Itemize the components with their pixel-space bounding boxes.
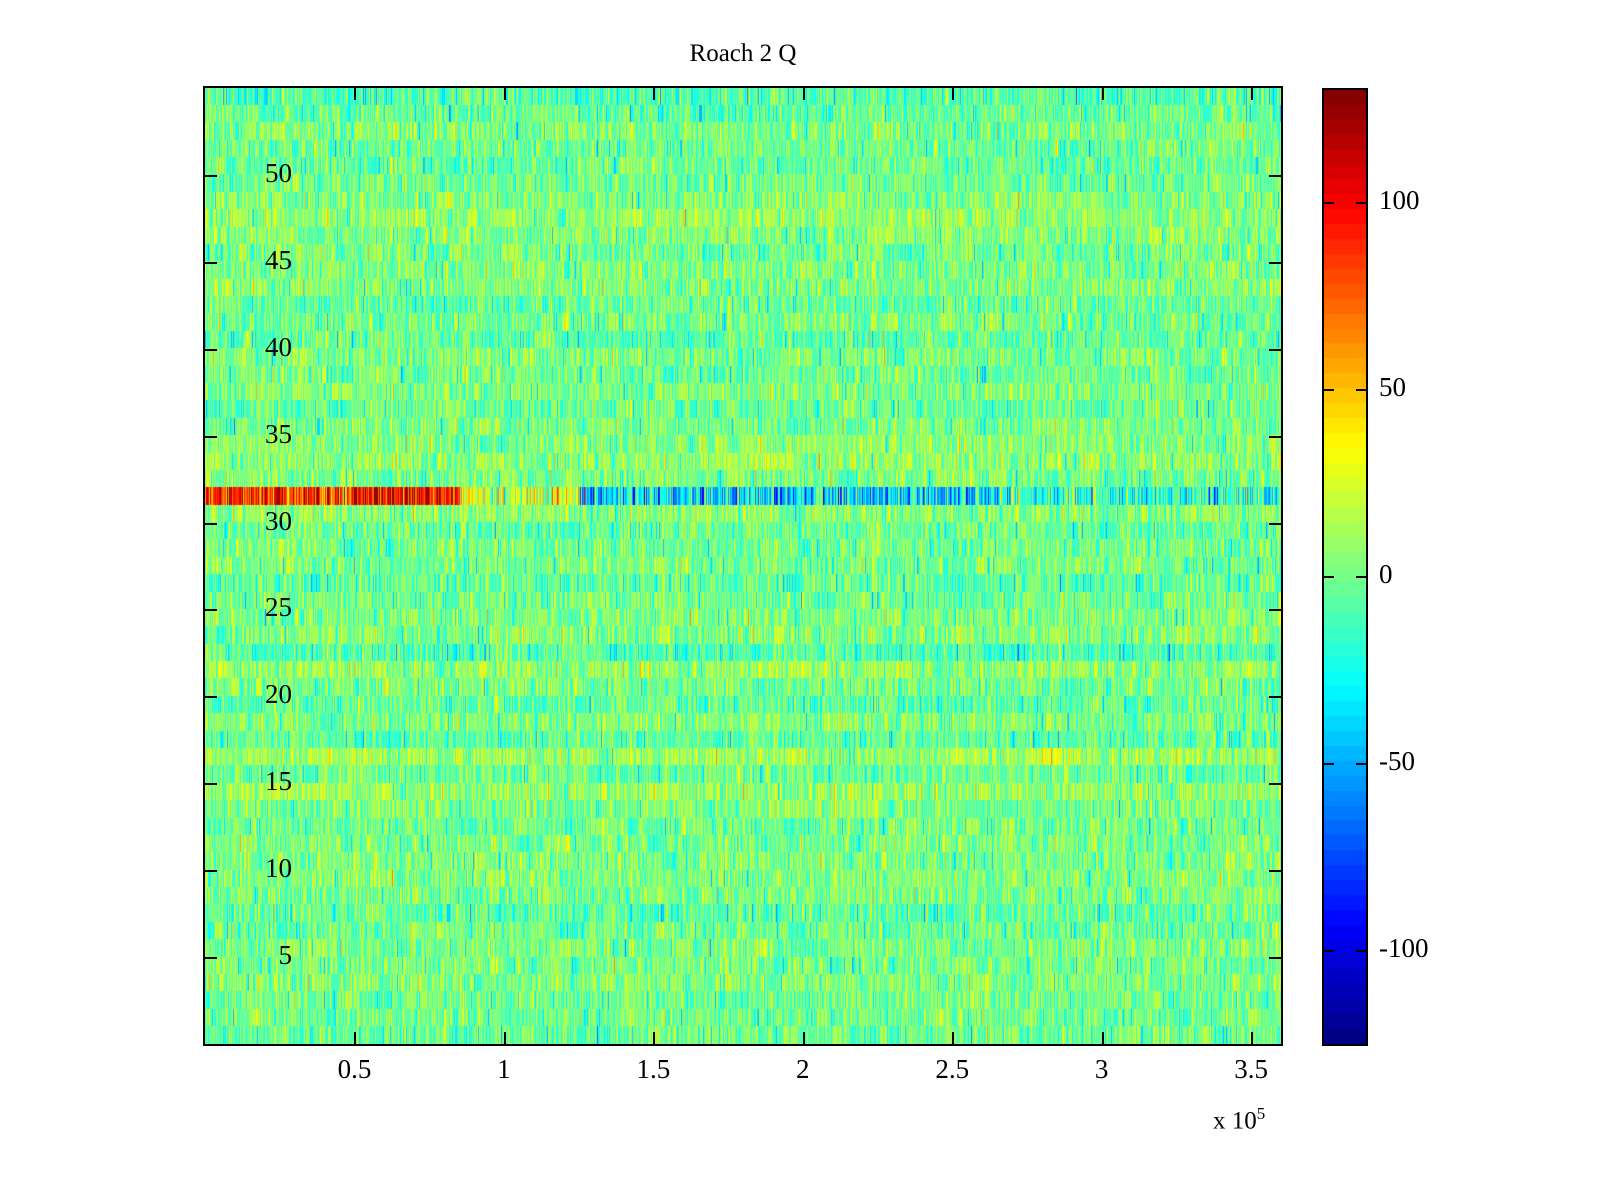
x-tick-label: 2 (796, 1056, 810, 1083)
x-tick-label: 2.5 (935, 1056, 969, 1083)
y-tick-mark-right (1269, 696, 1281, 698)
x-tick-label: 3 (1095, 1056, 1109, 1083)
colorbar-tick-mark-right (1356, 389, 1366, 391)
colorbar-tick-label: -100 (1379, 935, 1429, 962)
colorbar-tick-label: 50 (1379, 374, 1406, 401)
y-tick-mark-right (1269, 783, 1281, 785)
y-tick-mark-right (1269, 870, 1281, 872)
x-tick-label: 3.5 (1234, 1056, 1268, 1083)
y-tick-mark-right (1269, 523, 1281, 525)
y-tick-mark-left (205, 957, 217, 959)
y-tick-mark-right (1269, 609, 1281, 611)
y-tick-mark-left (205, 783, 217, 785)
colorbar-gradient (1324, 90, 1366, 1044)
x-tick-mark-bottom (952, 1032, 954, 1044)
y-tick-mark-left (205, 262, 217, 264)
x-tick-label: 1 (497, 1056, 511, 1083)
x-tick-label: 0.5 (338, 1056, 372, 1083)
y-tick-mark-left (205, 870, 217, 872)
heatmap-axes (203, 86, 1283, 1046)
x-tick-mark-bottom (1251, 1032, 1253, 1044)
x-tick-mark-top (952, 88, 954, 100)
y-tick-label: 20 (265, 681, 292, 708)
x-tick-label: 1.5 (636, 1056, 670, 1083)
y-tick-mark-left (205, 349, 217, 351)
x-axis-exponent-label: x 105 (1213, 1104, 1265, 1135)
y-tick-mark-right (1269, 262, 1281, 264)
x-tick-mark-top (653, 88, 655, 100)
colorbar-tick-mark-left (1324, 202, 1334, 204)
x-tick-mark-bottom (803, 1032, 805, 1044)
colorbar-tick-label: 0 (1379, 561, 1393, 588)
colorbar-tick-mark-left (1324, 389, 1334, 391)
heatmap-image (205, 88, 1281, 1044)
x-tick-mark-top (354, 88, 356, 100)
y-tick-label: 40 (265, 334, 292, 361)
x-tick-mark-top (1251, 88, 1253, 100)
colorbar-tick-label: -50 (1379, 748, 1415, 775)
y-tick-mark-left (205, 436, 217, 438)
y-tick-label: 50 (265, 160, 292, 187)
x-tick-mark-bottom (504, 1032, 506, 1044)
x-tick-mark-top (1102, 88, 1104, 100)
y-tick-label: 15 (265, 768, 292, 795)
y-tick-label: 35 (265, 421, 292, 448)
colorbar-tick-mark-right (1356, 763, 1366, 765)
colorbar-tick-mark-right (1356, 202, 1366, 204)
y-tick-label: 5 (279, 942, 293, 969)
colorbar-tick-label: 100 (1379, 187, 1420, 214)
y-tick-label: 25 (265, 594, 292, 621)
y-tick-label: 45 (265, 247, 292, 274)
y-tick-mark-left (205, 609, 217, 611)
colorbar-tick-mark-left (1324, 763, 1334, 765)
y-tick-mark-left (205, 696, 217, 698)
x-tick-mark-top (803, 88, 805, 100)
y-tick-mark-left (205, 523, 217, 525)
figure-canvas: Roach 2 Q 5101520253035404550 0.511.522.… (0, 0, 1600, 1200)
y-tick-mark-right (1269, 349, 1281, 351)
colorbar (1322, 88, 1368, 1046)
colorbar-tick-mark-left (1324, 950, 1334, 952)
x-tick-mark-bottom (1102, 1032, 1104, 1044)
x-tick-mark-top (504, 88, 506, 100)
x-tick-mark-bottom (354, 1032, 356, 1044)
colorbar-tick-mark-right (1356, 576, 1366, 578)
y-tick-label: 30 (265, 508, 292, 535)
x-tick-mark-bottom (653, 1032, 655, 1044)
y-tick-mark-right (1269, 175, 1281, 177)
page-title: Roach 2 Q (203, 40, 1283, 68)
y-tick-mark-right (1269, 957, 1281, 959)
y-tick-mark-right (1269, 436, 1281, 438)
colorbar-tick-mark-right (1356, 950, 1366, 952)
y-tick-mark-left (205, 175, 217, 177)
colorbar-tick-mark-left (1324, 576, 1334, 578)
y-tick-label: 10 (265, 855, 292, 882)
